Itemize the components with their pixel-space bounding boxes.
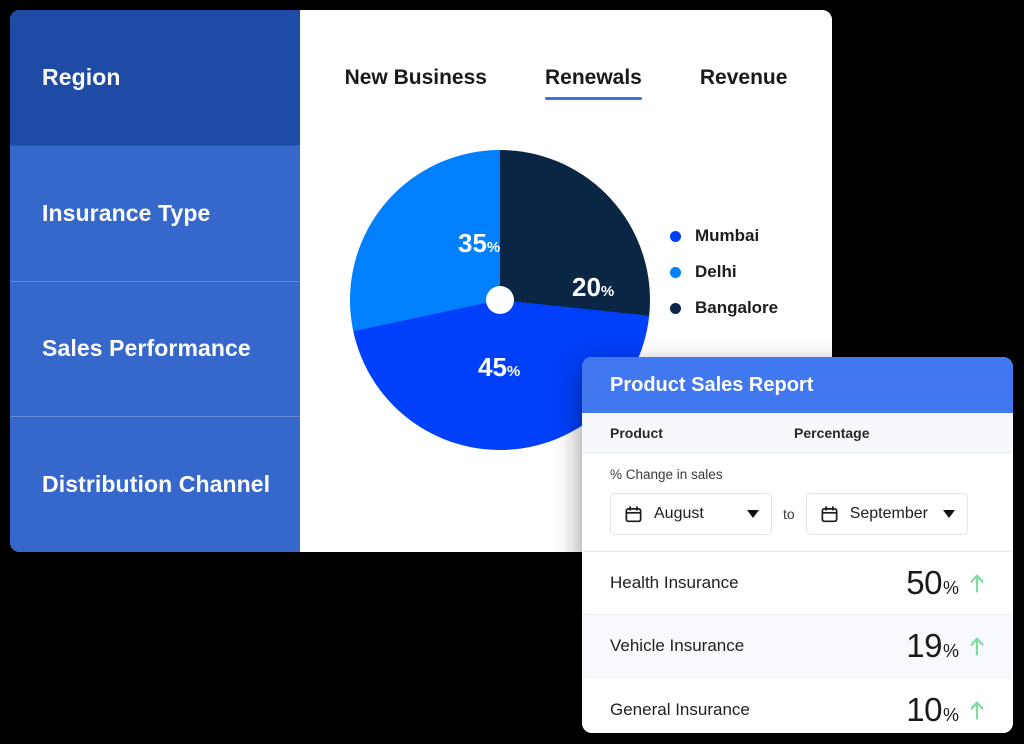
row-percent-sign: % <box>943 705 959 726</box>
table-row[interactable]: Vehicle Insurance 19% <box>582 615 1013 678</box>
sidebar-item-label: Region <box>42 64 121 91</box>
legend-item-mumbai[interactable]: Mumbai <box>670 218 778 254</box>
sidebar-item-label: Insurance Type <box>42 200 210 227</box>
pie-slice-label-bangalore: 20% <box>572 272 614 303</box>
filter-caption: % Change in sales <box>610 467 985 482</box>
pie-legend: Mumbai Delhi Bangalore <box>670 218 778 326</box>
month-from-value: August <box>654 505 733 523</box>
tab-new-business[interactable]: New Business <box>345 66 487 100</box>
row-percentage: 19% <box>906 627 985 665</box>
pie-center-hub <box>486 286 514 314</box>
row-value-number: 19 <box>906 627 942 665</box>
report-title-bar: Product Sales Report <box>582 357 1013 413</box>
row-value-number: 50 <box>906 564 942 602</box>
sidebar-item-sales-performance[interactable]: Sales Performance <box>10 282 300 418</box>
calendar-icon <box>821 506 838 523</box>
pie-slice-value: 45 <box>478 352 507 382</box>
chevron-down-icon <box>943 510 955 518</box>
legend-label: Bangalore <box>695 298 778 318</box>
legend-color-swatch <box>670 303 681 314</box>
column-header-product: Product <box>582 425 794 441</box>
trend-up-icon <box>969 573 985 593</box>
date-range-filter: % Change in sales August to <box>582 453 1013 552</box>
trend-up-icon <box>969 636 985 656</box>
tab-renewals[interactable]: Renewals <box>545 66 642 100</box>
month-to-select[interactable]: September <box>806 493 968 535</box>
row-product-name: Health Insurance <box>610 573 906 593</box>
legend-color-swatch <box>670 267 681 278</box>
pie-slice-label-delhi: 35% <box>458 228 500 259</box>
tab-label: New Business <box>345 66 487 89</box>
calendar-icon <box>625 506 642 523</box>
row-product-name: Vehicle Insurance <box>610 636 906 656</box>
sidebar: Region Insurance Type Sales Performance … <box>10 10 300 552</box>
chevron-down-icon <box>747 510 759 518</box>
range-separator-label: to <box>783 506 795 522</box>
pie-slice-percent-sign: % <box>487 239 500 256</box>
legend-item-delhi[interactable]: Delhi <box>670 254 778 290</box>
row-percent-sign: % <box>943 578 959 599</box>
sidebar-item-region[interactable]: Region <box>10 10 300 146</box>
row-percentage: 10% <box>906 691 985 729</box>
sidebar-item-insurance-type[interactable]: Insurance Type <box>10 146 300 282</box>
tab-bar: New Business Renewals Revenue <box>300 66 832 100</box>
pie-slice-value: 35 <box>458 228 487 258</box>
pie-slice-percent-sign: % <box>507 363 520 380</box>
row-product-name: General Insurance <box>610 700 906 720</box>
row-percentage: 50% <box>906 564 985 602</box>
month-from-select[interactable]: August <box>610 493 772 535</box>
row-value-number: 10 <box>906 691 942 729</box>
tab-label: Revenue <box>700 66 788 89</box>
pie-slice-percent-sign: % <box>601 283 614 300</box>
pie-slice-value: 20 <box>572 272 601 302</box>
legend-color-swatch <box>670 231 681 242</box>
product-sales-report-card: Product Sales Report Product Percentage … <box>582 357 1013 733</box>
tab-revenue[interactable]: Revenue <box>700 66 788 100</box>
row-percent-sign: % <box>943 641 959 662</box>
legend-label: Mumbai <box>695 226 759 246</box>
pie-slice-label-mumbai: 45% <box>478 352 520 383</box>
report-column-headers: Product Percentage <box>582 413 1013 453</box>
legend-label: Delhi <box>695 262 737 282</box>
table-row[interactable]: Health Insurance 50% <box>582 552 1013 615</box>
month-selectors: August to September <box>610 493 985 535</box>
report-rows: Health Insurance 50% Vehicle Insurance 1… <box>582 552 1013 733</box>
sidebar-item-distribution-channel[interactable]: Distribution Channel <box>10 417 300 552</box>
month-to-value: September <box>850 505 929 523</box>
table-row[interactable]: General Insurance 10% <box>582 678 1013 733</box>
trend-up-icon <box>969 700 985 720</box>
tab-label: Renewals <box>545 66 642 89</box>
sidebar-item-label: Sales Performance <box>42 335 251 362</box>
column-header-percentage: Percentage <box>794 425 869 441</box>
screen-root: Region Insurance Type Sales Performance … <box>0 0 1024 744</box>
sidebar-item-label: Distribution Channel <box>42 471 270 498</box>
report-title: Product Sales Report <box>610 374 813 397</box>
legend-item-bangalore[interactable]: Bangalore <box>670 290 778 326</box>
